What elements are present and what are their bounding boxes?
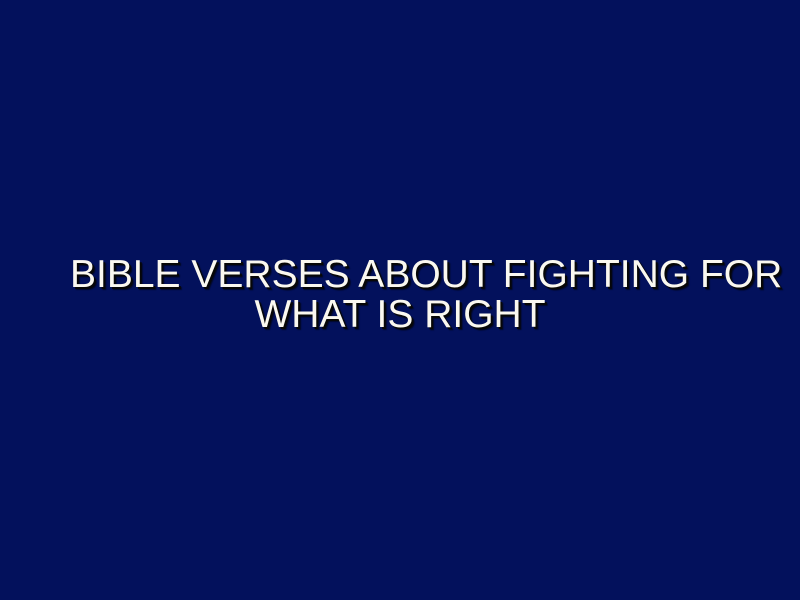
title-card: BIBLE VERSES ABOUT FIGHTING FOR WHAT IS … xyxy=(0,0,800,600)
title-line-1: BIBLE VERSES ABOUT FIGHTING FOR xyxy=(70,255,730,295)
title-line-2: WHAT IS RIGHT xyxy=(70,295,730,335)
page-title: BIBLE VERSES ABOUT FIGHTING FOR WHAT IS … xyxy=(70,255,730,335)
